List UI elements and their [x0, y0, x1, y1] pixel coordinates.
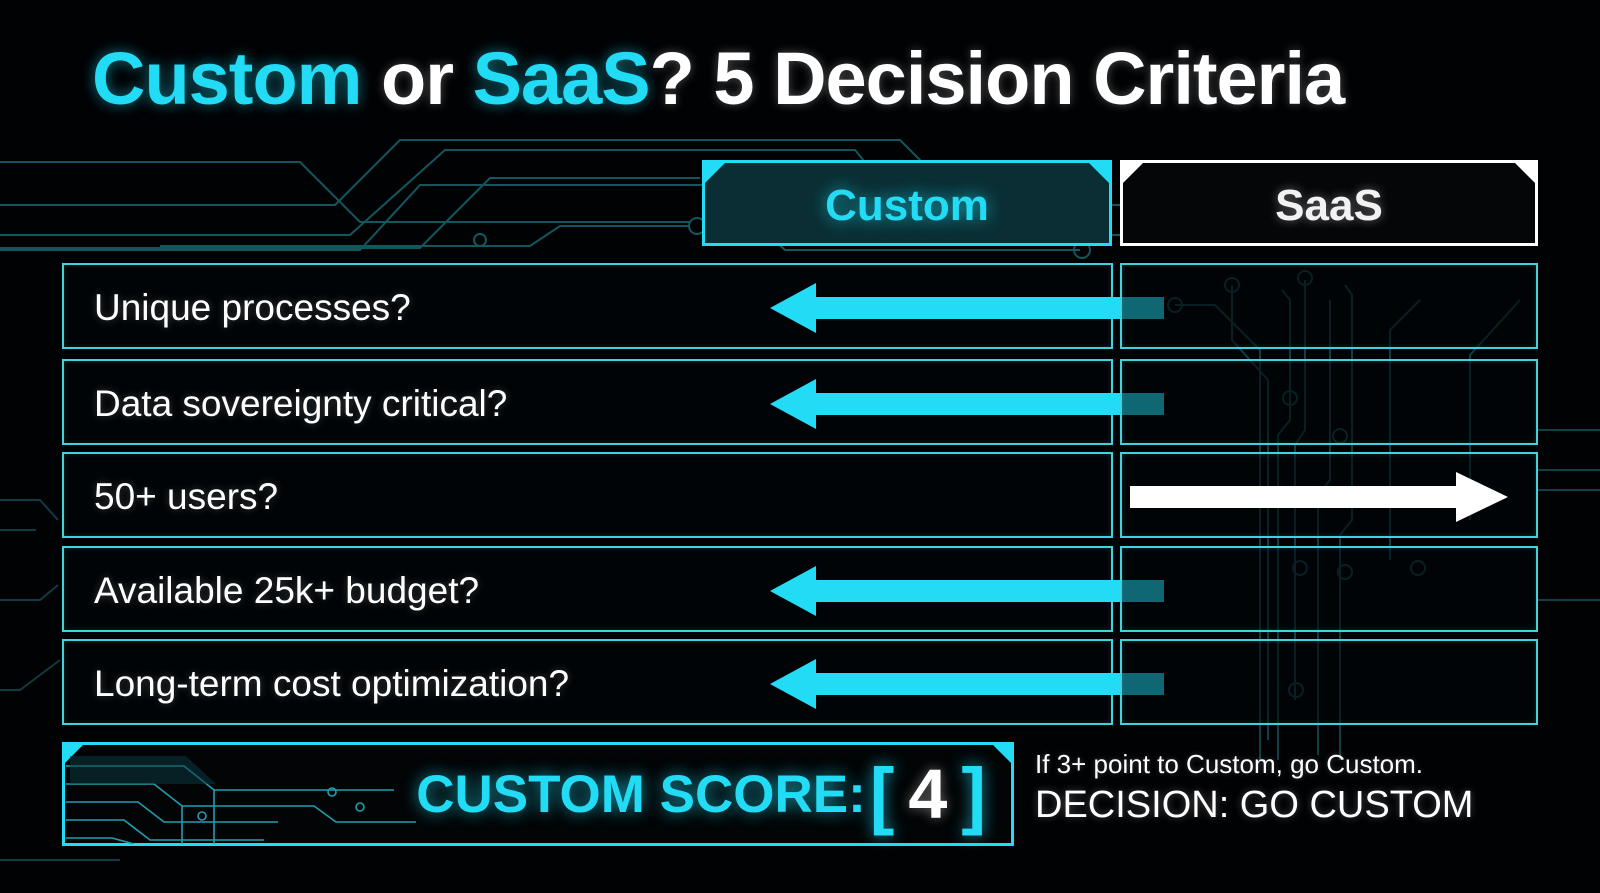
custom-arrow-left-icon	[770, 566, 1164, 616]
criteria-label: Available 25k+ budget?	[94, 548, 479, 634]
criteria-cell-2[interactable]: Data sovereignty critical?	[62, 359, 1113, 445]
criteria-label: 50+ users?	[94, 454, 278, 540]
score-value: 4	[898, 754, 957, 834]
criteria-cell-4[interactable]: Available 25k+ budget?	[62, 546, 1113, 632]
custom-arrow-left-icon	[770, 283, 1164, 333]
score-bracket-open: [	[866, 752, 899, 837]
criteria-label: Unique processes?	[94, 265, 411, 351]
criteria-label: Long-term cost optimization?	[94, 641, 569, 727]
decision-verdict-text: DECISION: GO CUSTOM	[1035, 783, 1555, 829]
custom-arrow-left-icon	[770, 659, 1164, 709]
score-bracket-close: ]	[957, 752, 990, 837]
decision-rule-text: If 3+ point to Custom, go Custom.	[1035, 748, 1555, 781]
saas-arrow-right-icon	[1130, 472, 1508, 522]
criteria-cell-1[interactable]: Unique processes?	[62, 263, 1113, 349]
score-text-group: CUSTOM SCORE: [ 4 ]	[62, 742, 1014, 846]
custom-arrow-left-icon	[770, 379, 1164, 429]
title-segment-custom: Custom	[92, 37, 361, 120]
column-header-custom[interactable]: Custom	[702, 160, 1112, 246]
criteria-cell-3[interactable]: 50+ users?	[62, 452, 1113, 538]
slide-canvas: Custom or SaaS? 5 Decision Criteria Cust…	[0, 0, 1600, 893]
criteria-label: Data sovereignty critical?	[94, 361, 507, 447]
title-segment-tail: ? 5 Decision Criteria	[650, 37, 1345, 120]
criteria-cell-5[interactable]: Long-term cost optimization?	[62, 639, 1113, 725]
saas-cell-3[interactable]	[1120, 452, 1538, 538]
score-label: CUSTOM SCORE:	[416, 764, 866, 825]
custom-score-bar: CUSTOM SCORE: [ 4 ]	[62, 742, 1014, 846]
saas-cell-5[interactable]	[1120, 639, 1538, 725]
page-title: Custom or SaaS? 5 Decision Criteria	[92, 36, 1344, 121]
saas-cell-1[interactable]	[1120, 263, 1538, 349]
decision-block: If 3+ point to Custom, go Custom. DECISI…	[1035, 748, 1555, 828]
saas-header-label: SaaS	[1275, 178, 1383, 228]
custom-header-label: Custom	[825, 178, 989, 228]
title-segment-saas: SaaS	[473, 37, 650, 120]
column-header-saas[interactable]: SaaS	[1120, 160, 1538, 246]
saas-cell-2[interactable]	[1120, 359, 1538, 445]
title-segment-or: or	[361, 37, 472, 120]
saas-cell-4[interactable]	[1120, 546, 1538, 632]
